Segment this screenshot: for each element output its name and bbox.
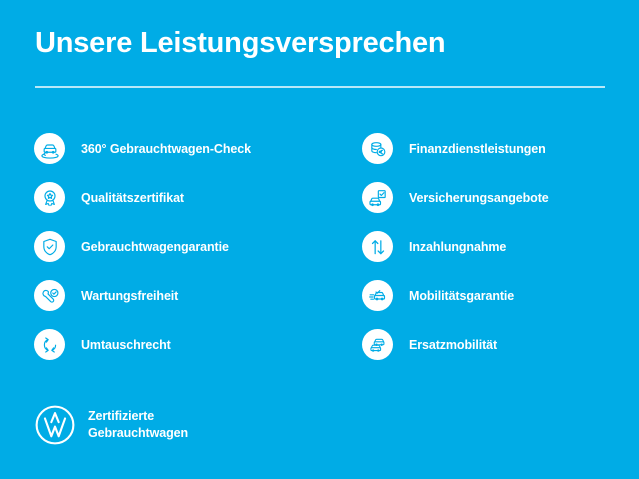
feature-item: Mobilitätsgarantie [362, 271, 632, 320]
brand-lockup-line2: Gebrauchtwagen [88, 426, 188, 440]
feature-label: Ersatzmobilität [409, 338, 497, 352]
feature-item: Gebrauchtwagengarantie [34, 222, 334, 271]
award-rosette-icon [34, 182, 65, 213]
feature-item: Qualitätszertifikat [34, 173, 334, 222]
feature-item: 360° Gebrauchtwagen-Check [34, 124, 334, 173]
feature-label: Gebrauchtwagengarantie [81, 240, 229, 254]
feature-label: Umtauschrecht [81, 338, 171, 352]
feature-item: Ersatzmobilität [362, 320, 632, 369]
feature-label: Versicherungsangebote [409, 191, 549, 205]
feature-item: Versicherungsangebote [362, 173, 632, 222]
feature-item: Umtauschrecht [34, 320, 334, 369]
feature-label: Mobilitätsgarantie [409, 289, 514, 303]
up-down-arrows-icon [362, 231, 393, 262]
volkswagen-logo [34, 404, 76, 446]
features-column-left: 360° Gebrauchtwagen-Check Qualitätszerti… [34, 124, 334, 369]
feature-label: Inzahlungnahme [409, 240, 506, 254]
feature-label: Wartungsfreiheit [81, 289, 178, 303]
wrench-check-icon [34, 280, 65, 311]
car-360-check-icon [34, 133, 65, 164]
shield-check-icon [34, 231, 65, 262]
feature-label: Qualitätszertifikat [81, 191, 184, 205]
feature-label: Finanzdienstleistungen [409, 142, 546, 156]
car-speed-check-icon [362, 280, 393, 311]
feature-item: Wartungsfreiheit [34, 271, 334, 320]
coins-euro-icon [362, 133, 393, 164]
feature-item: Inzahlungnahme [362, 222, 632, 271]
brand-lockup: Zertifizierte Gebrauchtwagen [34, 404, 188, 446]
exchange-arrows-icon [34, 329, 65, 360]
page-title: Unsere Leistungsversprechen [35, 28, 605, 60]
car-document-check-icon [362, 182, 393, 213]
feature-label: 360° Gebrauchtwagen-Check [81, 142, 251, 156]
features-column-right: Finanzdienstleistungen Versicherungsange… [362, 124, 632, 369]
header-divider [35, 86, 605, 88]
brand-lockup-line1: Zertifizierte [88, 409, 154, 423]
feature-item: Finanzdienstleistungen [362, 124, 632, 173]
brand-lockup-text: Zertifizierte Gebrauchtwagen [88, 408, 188, 441]
leistungsversprechen-panel: Unsere Leistungsversprechen 360° Gebrauc… [0, 0, 639, 479]
header: Unsere Leistungsversprechen [35, 28, 605, 60]
two-cars-icon [362, 329, 393, 360]
